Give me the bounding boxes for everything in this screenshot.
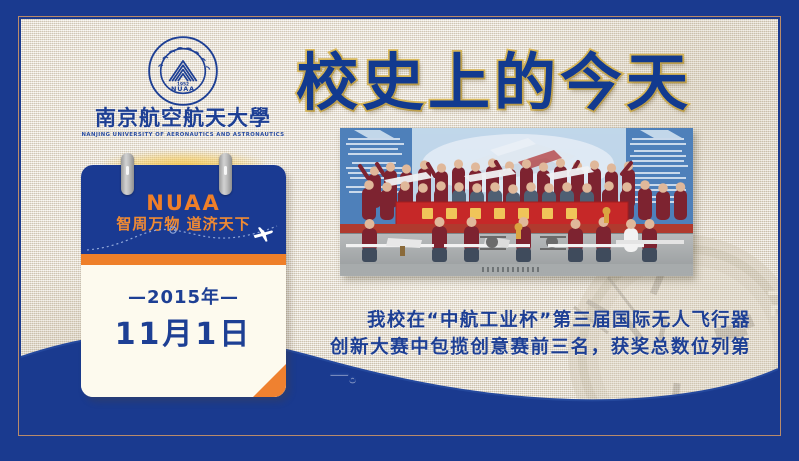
poster-root: NUAA 1952 南京航空航天大學 NANJING UNIVERSITY OF…: [0, 0, 799, 461]
calendar-sheet: —2015年— 11月1日: [81, 265, 286, 397]
calendar-header: NUAA 智周万物 道济天下: [81, 165, 286, 254]
calendar-year: —2015年—: [81, 289, 286, 307]
airplane-icon: [252, 225, 274, 243]
event-photo: [340, 128, 693, 276]
brand-name-cn: 南京航空航天大學: [83, 108, 283, 129]
event-caption: 我校在“中航工业杯”第三届国际无人飞行器创新大赛中包揽创意赛前三名，获奖总数位列…: [330, 307, 750, 389]
poster-canvas: NUAA 1952 南京航空航天大學 NANJING UNIVERSITY OF…: [21, 19, 778, 433]
calendar-corner-fold: [253, 364, 286, 397]
svg-text:1952: 1952: [177, 81, 189, 87]
event-photo-content: [340, 128, 693, 276]
calendar-clip-left: [121, 153, 134, 195]
calendar-card: NUAA 智周万物 道济天下 —2015年— 11月1日: [81, 165, 286, 397]
nuaa-brand-block: NUAA 1952 南京航空航天大學 NANJING UNIVERSITY OF…: [83, 35, 283, 138]
calendar-date: 11月1日: [81, 320, 286, 350]
calendar-body: NUAA 智周万物 道济天下 —2015年— 11月1日: [81, 165, 286, 397]
calendar-logo-text: NUAA: [81, 193, 286, 214]
brand-name-en: NANJING UNIVERSITY OF AERONAUTICS AND AS…: [81, 132, 285, 138]
calendar-stripe: [81, 254, 286, 265]
nuaa-crest-icon: NUAA 1952: [147, 35, 219, 107]
page-title: 校史上的今天: [296, 52, 692, 114]
calendar-clip-right: [219, 153, 232, 195]
